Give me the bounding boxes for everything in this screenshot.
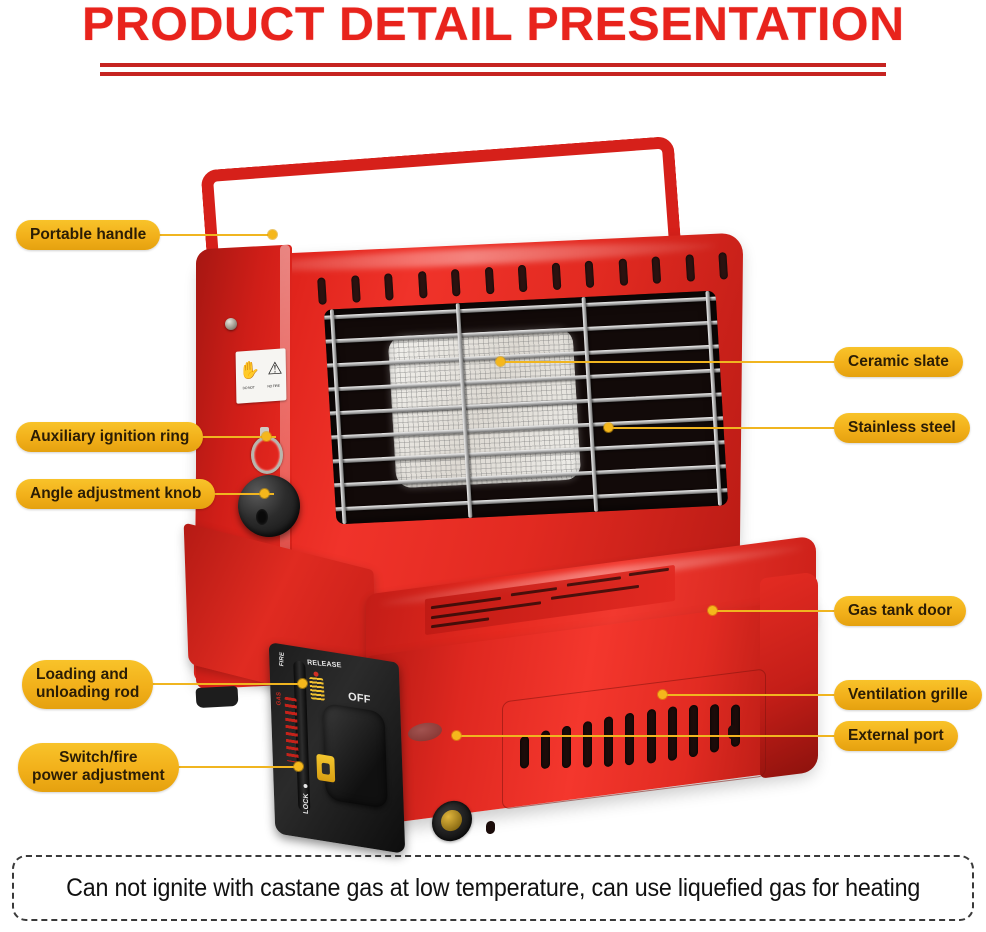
product-detail-page: PRODUCT DETAIL PRESENTATION [0,0,986,932]
label-line [511,587,557,596]
tank-vent-slot [520,736,529,769]
label-line [567,576,621,586]
callout-ventilation-grille[interactable]: Ventilation grille [834,680,982,710]
anchor-dot-loading-unloading-rod [298,679,307,688]
tank-vent-slot [668,706,677,761]
fire-label: FIRE [279,651,286,667]
leader-line-external-port [460,735,838,737]
page-title: PRODUCT DETAIL PRESENTATION [82,0,905,51]
stainless-steel-wire-grille [324,291,728,525]
callout-switch-fire-power-adjustment[interactable]: Switch/fire power adjustment [18,743,179,792]
vent-slot [518,265,528,292]
leader-line-gas-tank-door [712,610,838,612]
ring-circle [251,436,283,474]
title-divider [100,62,886,78]
vent-slot [551,263,561,290]
anchor-dot-auxiliary-ignition-ring [262,432,271,441]
vent-slot [484,267,494,294]
callout-stainless-steel[interactable]: Stainless steel [834,413,970,443]
grille-wire [324,368,724,392]
release-label: RELEASE [307,659,342,669]
anchor-dot-gas-tank-door [708,606,717,615]
body-screw [225,318,237,330]
tank-vent-hole [728,724,737,739]
grille-wire [324,344,723,368]
angle-adjustment-knob-part [238,475,300,537]
heater-grille-recess [324,291,728,525]
grille-wire [324,320,722,344]
off-label: OFF [348,691,371,707]
page-header: PRODUCT DETAIL PRESENTATION [0,0,986,54]
anchor-dot-switch-fire-power-adjustment [294,762,303,771]
vent-slot [718,252,728,279]
gas-tank-door-part [760,571,818,778]
callout-auxiliary-ignition-ring[interactable]: Auxiliary ignition ring [16,422,203,452]
tank-vent-slot [710,704,719,753]
tank-vent-slot [604,716,613,767]
tank-vent-slot [625,712,634,765]
vent-slot [618,258,628,285]
grille-wire [332,488,729,512]
grille-wire [329,440,728,464]
anchor-dot-stainless-steel [604,423,613,432]
vent-slot [317,277,327,304]
callout-loading-unloading-rod[interactable]: Loading and unloading rod [22,660,153,709]
leader-line-ventilation-grille [664,694,838,696]
vent-slot [417,271,427,298]
anchor-dot-portable-handle [268,230,277,239]
divider-line-bottom [100,72,886,76]
leader-line-stainless-steel [608,427,838,429]
divider-line-top [100,63,886,67]
callout-portable-handle[interactable]: Portable handle [16,220,160,250]
grille-wire [326,392,726,416]
callout-angle-adjustment-knob[interactable]: Angle adjustment knob [16,479,215,509]
power-scale-marks [285,697,299,763]
safety-lock-tag [316,754,335,783]
vent-slot [685,254,695,281]
warning-label-sticker: ✋ ⚠ DO NOT NO FIRE [236,348,287,403]
tank-vent-slot [562,725,571,768]
label-line [551,585,639,600]
anchor-dot-external-port [452,731,461,740]
sticker-caption-left: DO NOT [243,385,255,390]
leader-line-loading-unloading-rod [146,683,306,685]
footer-note-box: Can not ignite with castane gas at low t… [12,855,974,921]
anchor-dot-ceramic-slate [496,357,505,366]
tank-vent-slot [689,704,698,757]
callout-external-port[interactable]: External port [834,721,958,751]
footer-note-text: Can not ignite with castane gas at low t… [66,874,920,903]
gas-label: GAS [276,691,282,706]
vent-slot [351,275,361,302]
callout-ceramic-slate[interactable]: Ceramic slate [834,347,963,377]
vent-slot [451,269,461,296]
vent-slot [651,256,661,283]
anchor-dot-angle-adjustment-knob [260,489,269,498]
vent-slot [585,261,595,288]
tank-vent-slot [583,721,592,768]
leader-line-portable-handle [148,234,274,236]
anchor-dot-ventilation-grille [658,690,667,699]
panel-indicator-light [303,784,307,789]
external-port-pin [486,821,495,835]
sticker-caption-right: NO FIRE [267,384,279,389]
no-fire-icon: ⚠ [267,359,283,377]
vent-slot [384,273,394,300]
lock-label: LOCK [303,793,310,815]
panel-indicator-light [313,671,318,677]
heater-foot [196,686,239,708]
grille-wire [330,464,728,488]
control-panel[interactable]: RELEASE OFF LOCK FIRE GAS [269,642,406,854]
sticker-icon-row: ✋ ⚠ [236,348,287,386]
no-hand-icon: ✋ [239,361,260,379]
label-line [431,617,489,628]
callout-gas-tank-door[interactable]: Gas tank door [834,596,966,626]
leader-line-switch-fire-power-adjustment [170,766,302,768]
leader-line-ceramic-slate [500,361,838,363]
flame-level-indicator [309,677,325,701]
